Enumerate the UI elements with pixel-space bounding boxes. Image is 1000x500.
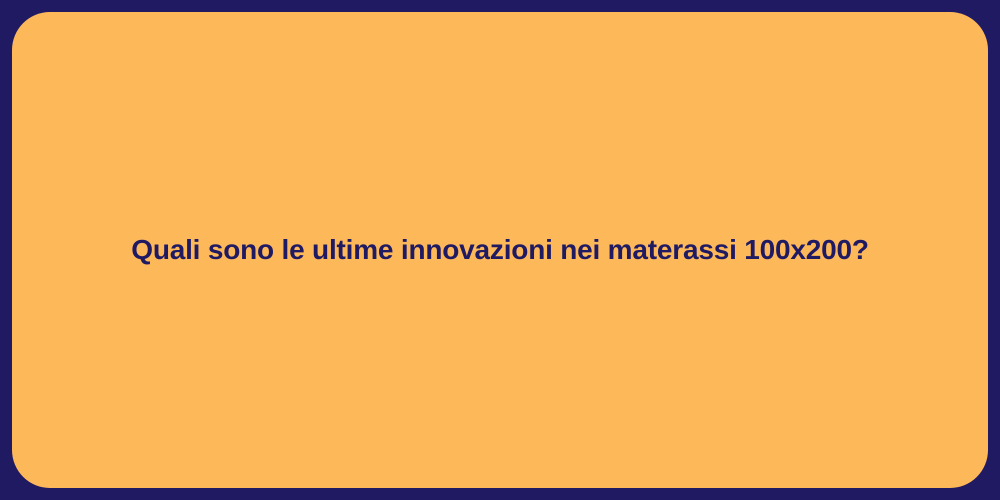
banner-root: Quali sono le ultime innovazioni nei mat…: [0, 0, 1000, 500]
page-title: Quali sono le ultime innovazioni nei mat…: [131, 232, 868, 267]
content-panel: Quali sono le ultime innovazioni nei mat…: [12, 12, 988, 488]
headline-container: Quali sono le ultime innovazioni nei mat…: [12, 232, 988, 267]
